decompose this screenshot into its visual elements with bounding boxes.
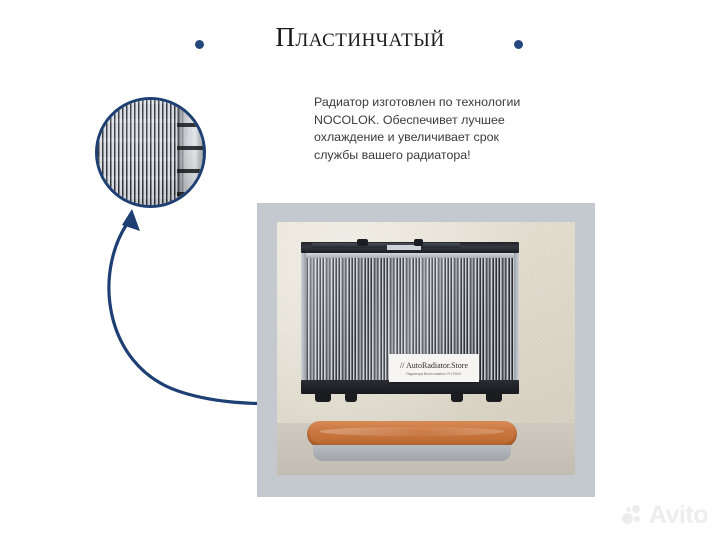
stand-base xyxy=(313,445,511,461)
store-name: // AutoRadiator.Store xyxy=(400,361,468,370)
radiator-foot xyxy=(315,392,331,402)
slide-canvas: Пластинчатый Радиатор изготовлен по техн… xyxy=(0,0,720,540)
radiator-top-tank xyxy=(301,242,519,253)
radiator-side-left xyxy=(301,253,306,383)
radiator-foot xyxy=(345,392,357,402)
decorative-dot-right xyxy=(514,40,523,49)
avito-watermark: Avito xyxy=(622,503,708,528)
page-title: Пластинчатый xyxy=(230,22,490,53)
store-info-card: // AutoRadiator.Store Радиаторы Волга ла… xyxy=(389,354,479,382)
radiator-fin-closeup-circle xyxy=(95,97,206,208)
decorative-dot-left xyxy=(195,40,204,49)
radiator-foot xyxy=(486,392,502,402)
avito-logo-icon xyxy=(622,505,644,527)
radiator-fitting xyxy=(414,239,423,246)
circle-vignette xyxy=(98,100,203,205)
radiator-top-bar xyxy=(311,243,461,248)
product-photo: // AutoRadiator.Store Радиаторы Волга ла… xyxy=(277,222,575,475)
avito-wordmark: Avito xyxy=(649,503,708,528)
radiator-foot xyxy=(451,392,463,402)
stand-sheen xyxy=(320,427,505,436)
store-subtitle: Радиаторы Волга ламбла УЛ 1791Ю xyxy=(407,372,461,376)
radiator-side-right xyxy=(514,253,519,383)
radiator-filler-neck xyxy=(357,239,368,246)
body-paragraph: Радиатор изготовлен по технологии NOCOLO… xyxy=(314,94,540,164)
wooden-stand-top xyxy=(307,421,517,447)
product-photo-frame: // AutoRadiator.Store Радиаторы Волга ла… xyxy=(257,203,595,497)
